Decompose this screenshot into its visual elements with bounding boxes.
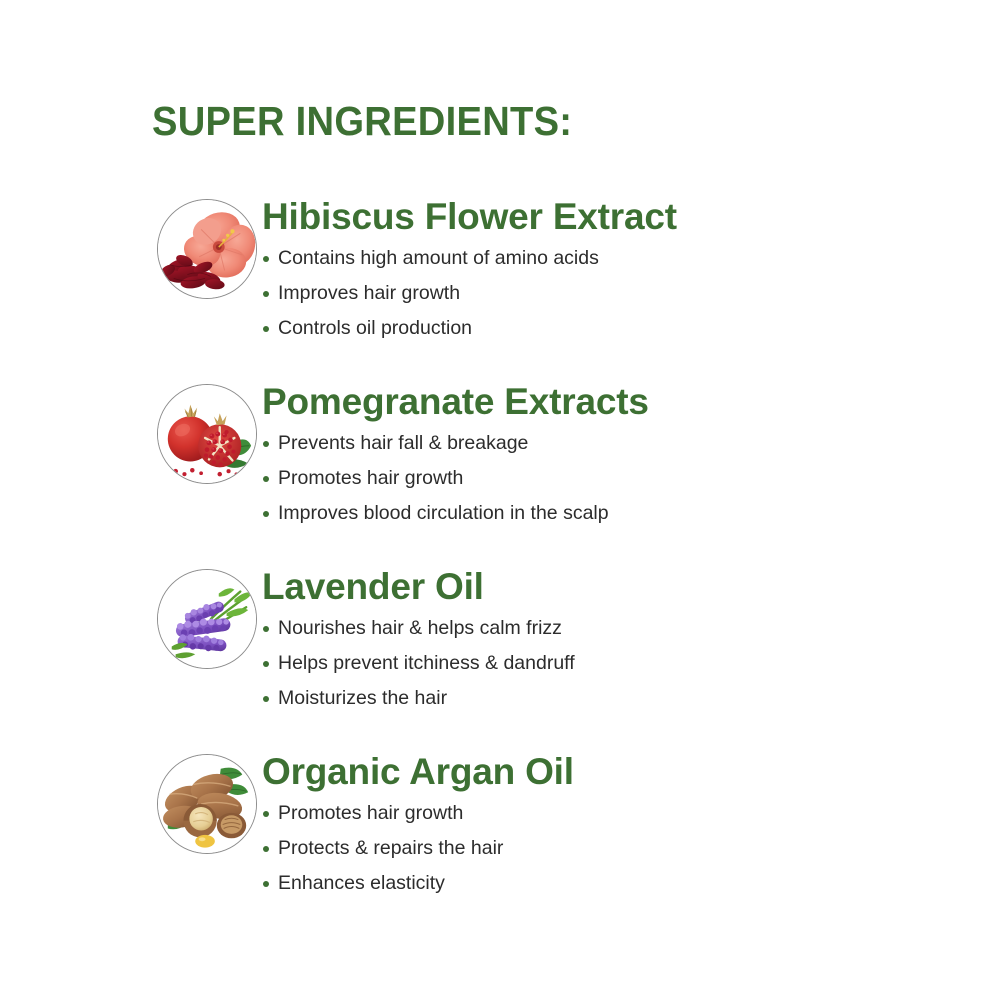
benefit-item: Helps prevent itchiness & dandruff <box>262 646 980 681</box>
benefit-list: Contains high amount of amino acids Impr… <box>262 241 980 346</box>
ingredient-name: Organic Argan Oil <box>262 752 980 792</box>
ingredient-section-pomegranate: Pomegranate Extracts Prevents hair fall … <box>0 382 1000 567</box>
benefit-item: Prevents hair fall & breakage <box>262 426 980 461</box>
ingredient-section-argan: Organic Argan Oil Promotes hair growth P… <box>0 752 1000 937</box>
benefit-item: Enhances elasticity <box>262 866 980 901</box>
ingredient-section-lavender: Lavender Oil Nourishes hair & helps calm… <box>0 567 1000 752</box>
benefit-text: Nourishes hair & helps calm frizz <box>278 617 562 639</box>
bullet-icon <box>263 811 269 817</box>
benefit-text: Enhances elasticity <box>278 872 445 894</box>
bullet-icon <box>263 696 269 702</box>
benefit-text: Prevents hair fall & breakage <box>278 432 528 454</box>
benefit-item: Contains high amount of amino acids <box>262 241 980 276</box>
benefit-list: Nourishes hair & helps calm frizz Helps … <box>262 611 980 716</box>
benefit-text: Moisturizes the hair <box>278 687 447 709</box>
benefit-text: Protects & repairs the hair <box>278 837 503 859</box>
bullet-icon <box>263 326 269 332</box>
benefit-text: Promotes hair growth <box>278 802 463 824</box>
ingredient-content: Hibiscus Flower Extract Contains high am… <box>262 197 980 346</box>
ingredient-name: Lavender Oil <box>262 567 980 607</box>
bullet-icon <box>263 881 269 887</box>
ingredient-name: Hibiscus Flower Extract <box>262 197 980 237</box>
benefit-text: Improves hair growth <box>278 282 460 304</box>
benefit-item: Promotes hair growth <box>262 796 980 831</box>
bullet-icon <box>263 256 269 262</box>
bullet-icon <box>263 661 269 667</box>
benefit-item: Protects & repairs the hair <box>262 831 980 866</box>
ingredient-content: Pomegranate Extracts Prevents hair fall … <box>262 382 980 531</box>
benefit-item: Moisturizes the hair <box>262 681 980 716</box>
benefit-text: Contains high amount of amino acids <box>278 247 599 269</box>
benefit-item: Controls oil production <box>262 311 980 346</box>
ingredients-infographic: SUPER INGREDIENTS: <box>0 0 1000 1000</box>
bullet-icon <box>263 441 269 447</box>
benefit-item: Nourishes hair & helps calm frizz <box>262 611 980 646</box>
page-title: SUPER INGREDIENTS: <box>152 99 572 143</box>
benefit-item: Promotes hair growth <box>262 461 980 496</box>
argan-nut-icon <box>157 754 257 854</box>
benefit-text: Improves blood circulation in the scalp <box>278 502 609 524</box>
ingredient-content: Lavender Oil Nourishes hair & helps calm… <box>262 567 980 716</box>
benefit-item: Improves blood circulation in the scalp <box>262 496 980 531</box>
ingredient-list: Hibiscus Flower Extract Contains high am… <box>0 197 1000 937</box>
ingredient-name: Pomegranate Extracts <box>262 382 980 422</box>
benefit-list: Prevents hair fall & breakage Promotes h… <box>262 426 980 531</box>
bullet-icon <box>263 511 269 517</box>
benefit-item: Improves hair growth <box>262 276 980 311</box>
bullet-icon <box>263 626 269 632</box>
lavender-icon <box>157 569 257 669</box>
bullet-icon <box>263 846 269 852</box>
ingredient-section-hibiscus: Hibiscus Flower Extract Contains high am… <box>0 197 1000 382</box>
hibiscus-flower-icon <box>157 199 257 299</box>
benefit-text: Promotes hair growth <box>278 467 463 489</box>
benefit-text: Controls oil production <box>278 317 472 339</box>
benefit-list: Promotes hair growth Protects & repairs … <box>262 796 980 901</box>
bullet-icon <box>263 291 269 297</box>
pomegranate-icon <box>157 384 257 484</box>
benefit-text: Helps prevent itchiness & dandruff <box>278 652 575 674</box>
ingredient-content: Organic Argan Oil Promotes hair growth P… <box>262 752 980 901</box>
bullet-icon <box>263 476 269 482</box>
